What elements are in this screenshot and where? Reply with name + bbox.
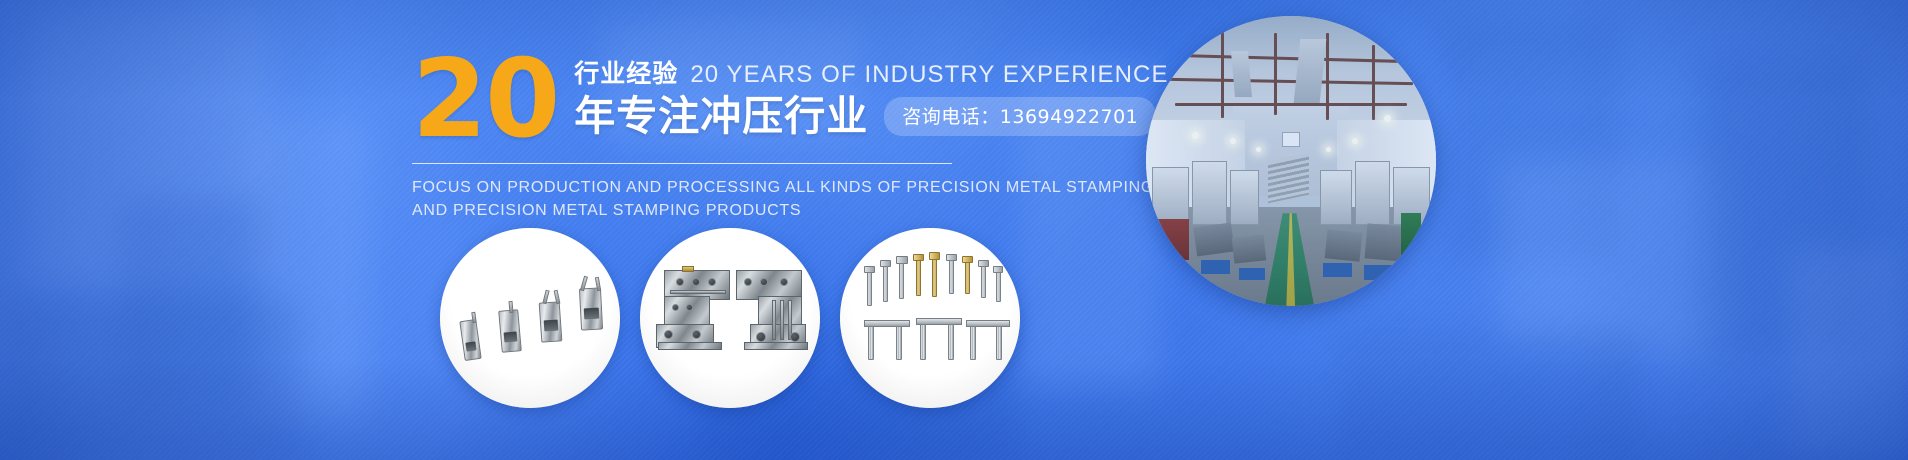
headline-line-one: 行业经验 20 YEARS OF INDUSTRY EXPERIENCE [574,54,1168,90]
headline-en: 20 YEARS OF INDUSTRY EXPERIENCE [690,61,1168,89]
product-circle-terminal-pins[interactable] [840,228,1020,408]
hero-banner: 20 行业经验 20 YEARS OF INDUSTRY EXPERIENCE … [0,0,1908,460]
product-circle-stamping-dies[interactable] [640,228,820,408]
product-circle-group [440,228,1020,408]
factory-photo[interactable] [1146,16,1436,306]
product-circle-usb-connectors[interactable] [440,228,620,408]
subtitle-line-2: AND PRECISION METAL STAMPING PRODUCTS [412,199,1112,222]
years-number: 20 [412,56,558,145]
headline-row: 20 行业经验 20 YEARS OF INDUSTRY EXPERIENCE … [412,46,1112,145]
headline-cn-small: 行业经验 [574,54,678,90]
headline-text-column: 行业经验 20 YEARS OF INDUSTRY EXPERIENCE 年专注… [574,46,1168,139]
headline-block: 20 行业经验 20 YEARS OF INDUSTRY EXPERIENCE … [412,46,1112,222]
phone-badge[interactable]: 咨询电话：13694922701 [884,97,1156,136]
headline-divider [412,163,952,164]
headline-line-two: 年专注冲压行业 咨询电话：13694922701 [574,94,1168,139]
subtitle-line-1: FOCUS ON PRODUCTION AND PROCESSING ALL K… [412,176,1112,199]
subtitle-block: FOCUS ON PRODUCTION AND PROCESSING ALL K… [412,176,1112,222]
headline-cn-big: 年专注冲压行业 [574,94,868,139]
